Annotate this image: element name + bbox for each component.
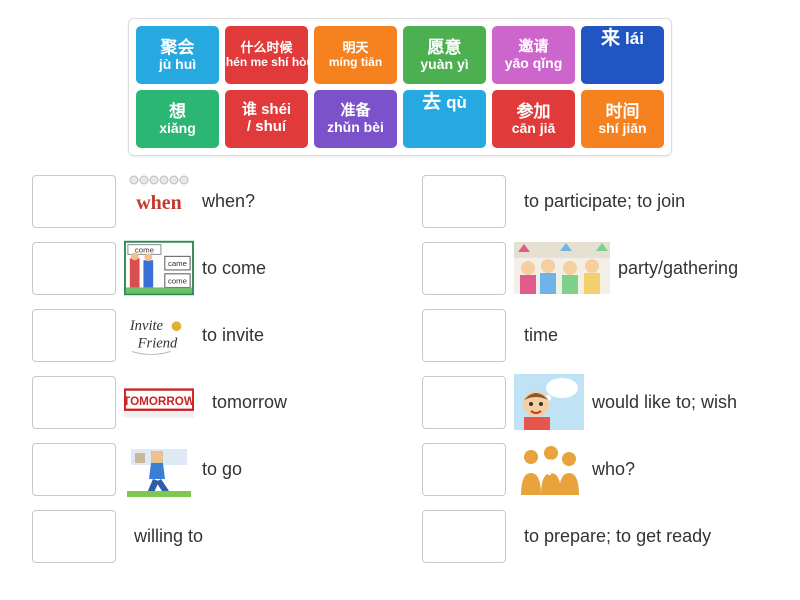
answer-columns: when when? come came come [32,172,772,565]
term-label: when? [202,191,255,212]
left-column: when when? come came come [32,172,382,565]
term-label: to come [202,258,266,279]
match-row: Invite Friend to invite [32,306,382,364]
come-classroom-image: come came come [124,240,194,296]
word-tile-pinyin: qù [446,93,467,112]
svg-text:come: come [168,277,187,286]
word-tile-hanzi: 什么时候 [240,41,292,56]
word-tile-pinyin: yuàn yì [420,57,468,73]
word-tile-hanzi: 想 [169,102,186,121]
term-label: to prepare; to get ready [524,526,711,547]
word-tile-hanzi: 参加 [517,102,551,121]
word-tile-pinyin: jù huì [159,57,196,73]
drop-target[interactable] [32,443,116,496]
word-tile-pinyin-inline: shéi [261,101,291,118]
match-row: willing to [32,507,382,565]
term-label: would like to; wish [592,392,737,413]
drop-target[interactable] [422,175,506,228]
word-tile-hanzi-line: 谁 shéi [242,102,291,119]
svg-text:come: come [135,245,154,254]
term-label: time [524,325,558,346]
word-tile-juhui[interactable]: 聚会 jù huì [136,26,219,84]
tomorrow-stamp-image: TOMORROW [124,374,194,430]
drop-target[interactable] [32,175,116,228]
word-tile-lai[interactable]: 来 lái [581,26,664,84]
term-label: party/gathering [618,258,738,279]
word-tile-pinyin: xiǎng [159,121,196,137]
thinking-child-image [514,374,584,430]
match-row: to participate; to join [422,172,772,230]
term-label: to participate; to join [524,191,685,212]
match-row: to prepare; to get ready [422,507,772,565]
word-tile-hanzi: 时间 [606,102,640,121]
svg-text:when: when [136,192,182,214]
right-column: to participate; to join [422,172,772,565]
svg-text:came: came [168,259,187,268]
word-tile-shenmeshihou[interactable]: 什么时候 shén me shí hòu [225,26,308,84]
term-label: to go [202,459,242,480]
match-row: would like to; wish [422,373,772,431]
drop-target[interactable] [422,443,506,496]
match-row: party/gathering [422,239,772,297]
term-label: tomorrow [212,392,287,413]
word-tile-hanzi: 明天 [342,41,368,56]
word-tile-hanzi: 邀请 [518,39,548,56]
drop-target[interactable] [32,376,116,429]
svg-text:?: ? [543,455,556,480]
word-bank-row-1: 聚会 jù huì 什么时候 shén me shí hòu 明天 míng t… [136,26,664,84]
match-row: come came come to come [32,239,382,297]
person-walking-image [124,441,194,497]
svg-text:TOMORROW: TOMORROW [124,395,194,408]
party-photo-image [514,240,610,296]
word-tile-pinyin: cān jiā [512,121,556,137]
word-tile-yuanyi[interactable]: 愿意 yuàn yì [403,26,486,84]
word-tile-mingtian[interactable]: 明天 míng tiān [314,26,397,84]
drop-target[interactable] [32,242,116,295]
match-row: when when? [32,172,382,230]
word-tile-pinyin: zhǔn bèi [327,120,384,136]
who-silhouettes-image: ? [514,441,584,497]
matching-activity: 聚会 jù huì 什么时候 shén me shí hòu 明天 míng t… [0,0,800,600]
word-tile-hanzi: 来 [601,28,620,49]
drop-target[interactable] [422,242,506,295]
match-row: ? who? [422,440,772,498]
word-tile-zhunbei[interactable]: 准备 zhǔn bèi [314,90,397,148]
match-row: to go [32,440,382,498]
word-tile-pinyin: shén me shí hòu [219,56,314,69]
drop-target[interactable] [32,309,116,362]
svg-text:Friend: Friend [137,336,178,352]
word-tile-hanzi: 去 [422,92,441,113]
word-tile-qu[interactable]: 去 qù [403,90,486,148]
drop-target[interactable] [422,510,506,563]
term-label: who? [592,459,635,480]
word-tile-pinyin: shí jiān [598,121,646,137]
drop-target[interactable] [32,510,116,563]
word-tile-yaoqing[interactable]: 邀请 yāo qǐng [492,26,575,84]
word-tile-pinyin: / shuí [247,119,286,136]
word-bank-row-2: 想 xiǎng 谁 shéi / shuí 准备 zhǔn bèi 去 qù 参… [136,90,664,148]
match-row: TOMORROW tomorrow [32,373,382,431]
word-tile-pinyin: míng tiān [329,56,382,69]
word-tile-hanzi: 聚会 [161,38,195,57]
word-bank: 聚会 jù huì 什么时候 shén me shí hòu 明天 míng t… [128,18,672,156]
invite-a-friend-image: Invite Friend [124,307,194,363]
word-tile-hanzi: 谁 [242,101,257,118]
word-tile-pinyin: yāo qǐng [505,56,563,72]
drop-target[interactable] [422,309,506,362]
word-tile-pinyin: lái [625,29,644,48]
when-word-art-image: when [124,173,194,229]
word-tile-shijian[interactable]: 时间 shí jiān [581,90,664,148]
match-row: time [422,306,772,364]
term-label: willing to [134,526,203,547]
svg-text:Invite: Invite [129,318,164,334]
drop-target[interactable] [422,376,506,429]
word-tile-hanzi: 准备 [340,103,370,120]
word-tile-shei[interactable]: 谁 shéi / shuí [225,90,308,148]
word-tile-xiang[interactable]: 想 xiǎng [136,90,219,148]
term-label: to invite [202,325,264,346]
word-tile-hanzi: 愿意 [428,38,462,57]
word-tile-canjia[interactable]: 参加 cān jiā [492,90,575,148]
